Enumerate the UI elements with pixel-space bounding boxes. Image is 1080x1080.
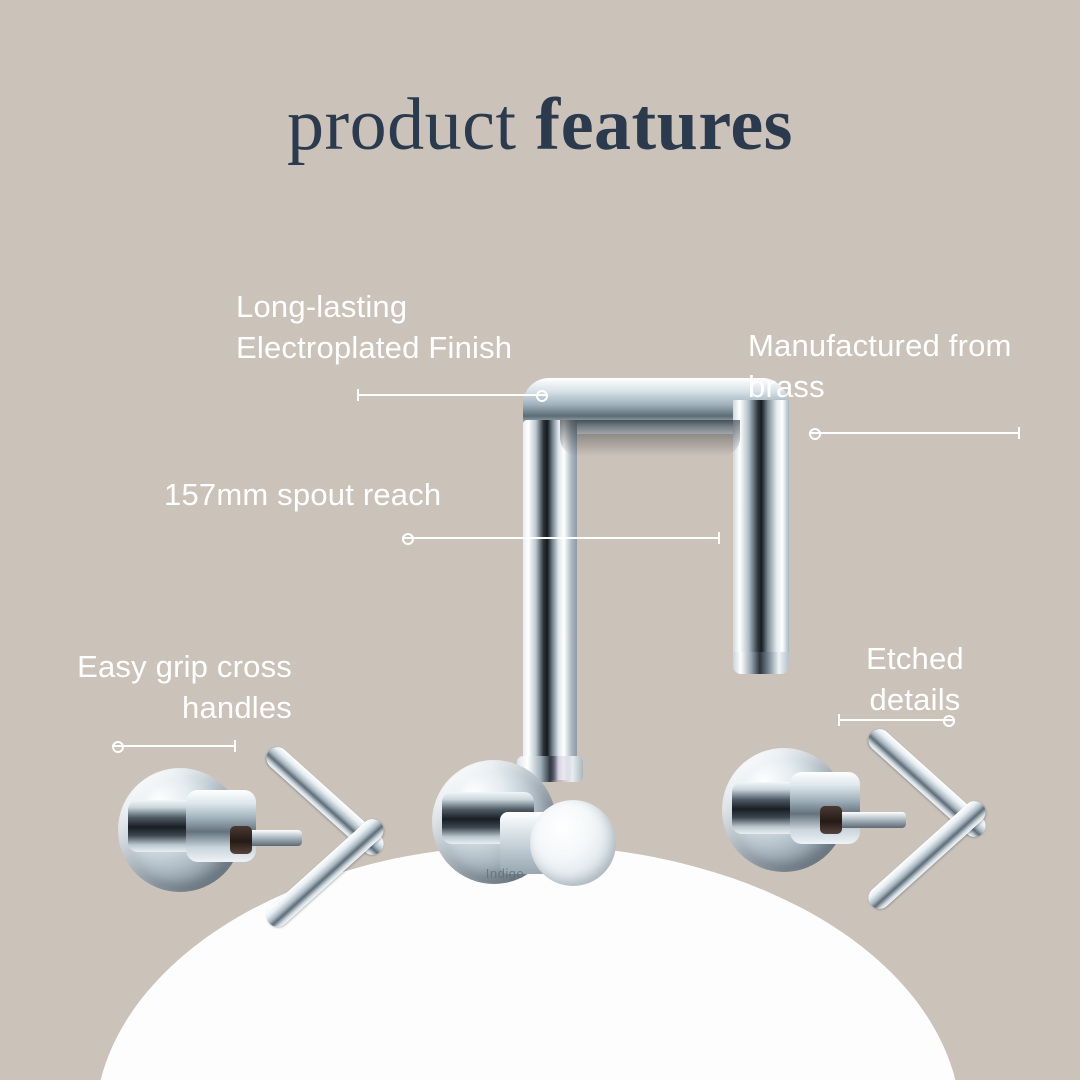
leader-cap-dot xyxy=(112,741,124,753)
leader-bar xyxy=(809,432,1020,434)
right-handle-stem xyxy=(836,812,906,828)
leader-cap-dot xyxy=(402,533,414,545)
spout-outlet-tip xyxy=(733,652,789,674)
leader-line-etched-details xyxy=(838,714,955,726)
leader-bar xyxy=(357,394,548,396)
spout-riser-column xyxy=(523,420,577,780)
leader-line-brass-construction xyxy=(809,427,1020,439)
feature-label-brass-construction: Manufactured from brass xyxy=(748,325,1048,407)
leader-line-electroplated-finish xyxy=(357,389,548,401)
leader-line-spout-reach xyxy=(402,532,720,544)
right-handle-screw-boss xyxy=(820,806,842,834)
left-handle-screw-boss xyxy=(230,826,252,854)
product-features-graphic: product features Indigo Lo xyxy=(0,0,1080,1080)
leader-cap-tick xyxy=(234,740,236,752)
leader-bar xyxy=(112,745,236,747)
leader-cap-dot xyxy=(536,390,548,402)
leader-cap-dot xyxy=(809,428,821,440)
brand-etching: Indigo xyxy=(470,866,540,881)
leader-line-cross-handles xyxy=(112,740,236,752)
feature-label-etched-details: Etched details xyxy=(830,638,1000,720)
leader-bar xyxy=(838,719,955,721)
feature-label-electroplated-finish: Long-lasting Electroplated Finish xyxy=(236,286,576,368)
spout-inner-shadow xyxy=(560,420,740,456)
feature-label-cross-handles: Easy grip cross handles xyxy=(20,646,292,728)
spout-descending-arm xyxy=(733,400,789,670)
leader-bar xyxy=(402,537,720,539)
feature-label-spout-reach: 157mm spout reach xyxy=(164,474,494,515)
leader-cap-dot xyxy=(943,715,955,727)
leader-cap-tick xyxy=(357,389,359,401)
leader-cap-tick xyxy=(838,714,840,726)
center-spout-cap xyxy=(530,800,616,886)
leader-cap-tick xyxy=(718,532,720,544)
leader-cap-tick xyxy=(1018,427,1020,439)
